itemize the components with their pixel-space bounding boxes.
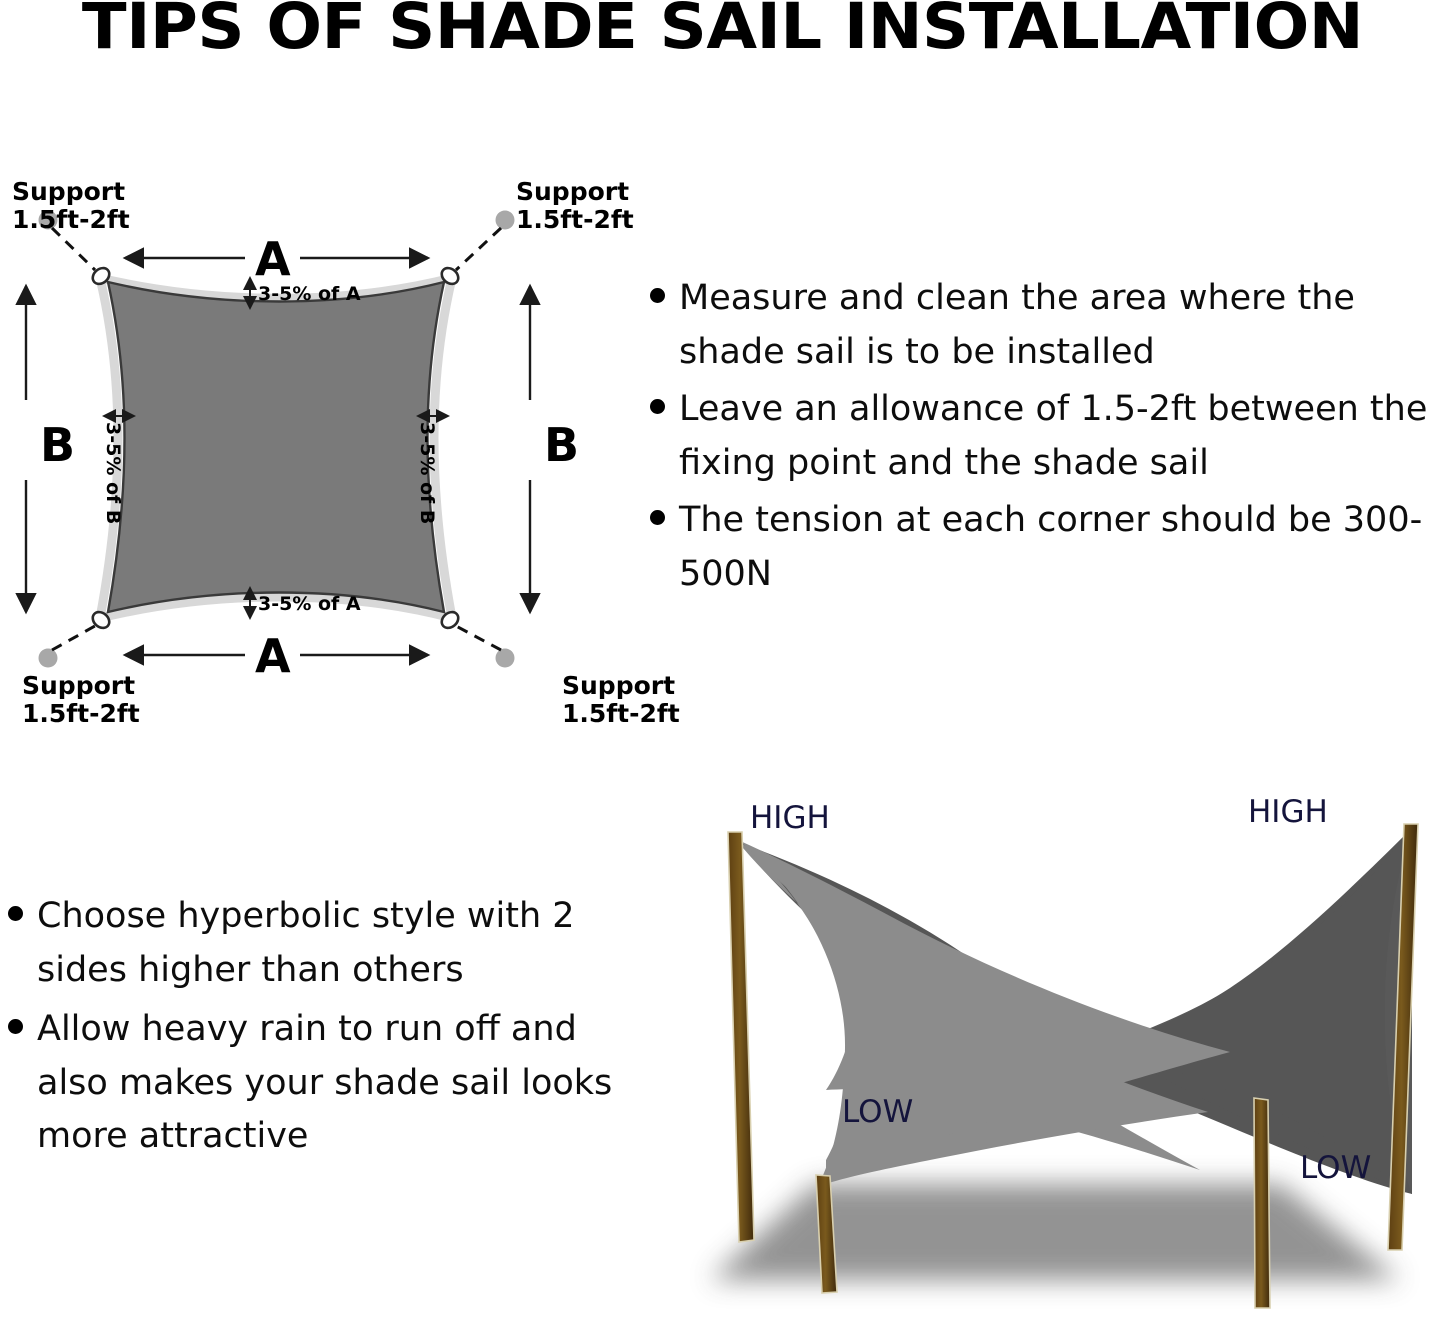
list-item: Allow heavy rain to run off and also mak…	[8, 1003, 628, 1164]
label-high-left: HIGH	[750, 800, 830, 836]
list-item: Choose hyperbolic style with 2 sides hig…	[8, 890, 628, 997]
bullet-dot-icon	[8, 1019, 23, 1034]
support-label-bottom-left: Support 1.5ft-2ft	[22, 672, 140, 728]
support-label-top-right: Support 1.5ft-2ft	[516, 178, 634, 234]
anchor-dot-top-right	[496, 211, 515, 230]
dimension-label-a-top: A	[255, 232, 291, 286]
bullet-dot-icon	[650, 288, 665, 303]
pole-low-right	[1254, 1098, 1270, 1308]
rectangular-sail-diagram: Support 1.5ft-2ft Support 1.5ft-2ft Supp…	[0, 150, 660, 730]
anchor-dot-bottom-left	[39, 649, 58, 668]
hyperbolic-diagram-svg: HIGH HIGH LOW LOW	[640, 780, 1445, 1319]
list-item-text: Measure and clean the area where the sha…	[679, 272, 1445, 379]
curve-label-left: 3-5% of B	[102, 422, 124, 524]
pole-high-left	[728, 832, 754, 1242]
bullet-dot-icon	[650, 399, 665, 414]
anchor-dot-bottom-right	[496, 649, 515, 668]
dimension-label-a-bottom: A	[255, 629, 291, 683]
support-label-top-left: Support 1.5ft-2ft	[12, 178, 130, 234]
installation-tips-list: Measure and clean the area where the sha…	[650, 272, 1445, 605]
support-line-bottom-right	[456, 626, 501, 650]
support-line-bottom-left	[52, 626, 95, 650]
label-low-right: LOW	[1300, 1150, 1371, 1186]
support-line-top-right	[456, 228, 501, 270]
label-high-right: HIGH	[1248, 794, 1328, 830]
hyperbolic-sail-scene: HIGH HIGH LOW LOW	[640, 780, 1445, 1319]
hyperbolic-tips-list: Choose hyperbolic style with 2 sides hig…	[8, 890, 628, 1170]
list-item: The tension at each corner should be 300…	[650, 494, 1445, 601]
bullet-dot-icon	[8, 906, 23, 921]
dimension-label-b-right: B	[544, 418, 579, 472]
bullet-dot-icon	[650, 510, 665, 525]
support-label-bottom-right: Support 1.5ft-2ft	[562, 672, 680, 728]
sail-body	[108, 282, 444, 612]
label-low-left: LOW	[842, 1094, 913, 1130]
curve-label-bottom: 3-5% of A	[258, 593, 361, 615]
list-item: Leave an allowance of 1.5-2ft between th…	[650, 383, 1445, 490]
page-title: TIPS OF SHADE SAIL INSTALLATION	[0, 0, 1445, 60]
dimension-label-b-left: B	[40, 418, 75, 472]
support-line-top-left	[52, 228, 95, 270]
list-item-text: Allow heavy rain to run off and also mak…	[37, 1003, 628, 1164]
list-item-text: Leave an allowance of 1.5-2ft between th…	[679, 383, 1445, 490]
curve-label-top: 3-5% of A	[258, 283, 361, 305]
ground-shadow	[710, 1184, 1400, 1280]
list-item-text: Choose hyperbolic style with 2 sides hig…	[37, 890, 628, 997]
list-item-text: The tension at each corner should be 300…	[679, 494, 1445, 601]
list-item: Measure and clean the area where the sha…	[650, 272, 1445, 379]
curve-label-right: 3-5% of B	[416, 422, 438, 524]
